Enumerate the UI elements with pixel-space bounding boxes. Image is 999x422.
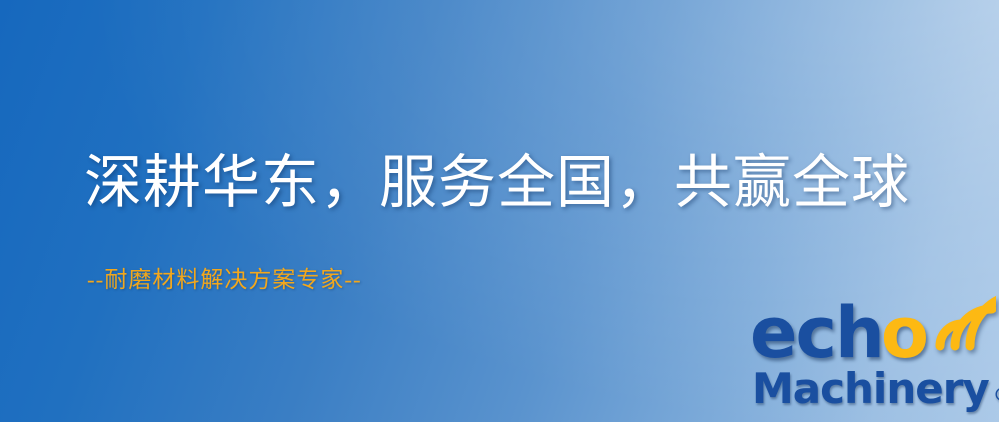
banner-headline: 深耕华东，服务全国，共赢全球 (84, 153, 910, 214)
echo-machinery-logo: ech o Machinery ® (744, 292, 996, 418)
logo-wordmark: ech o (750, 292, 927, 366)
logo-text-machinery: Machinery (752, 364, 989, 413)
promotional-banner: 深耕华东，服务全国，共赢全球 --耐磨材料解决方案专家-- ech o Mach… (0, 0, 999, 422)
signal-waves-icon (934, 290, 996, 352)
logo-text-o: o (881, 300, 927, 367)
logo-text-ech: ech (750, 300, 883, 367)
registered-trademark-icon: ® (993, 384, 999, 406)
banner-subheadline: --耐磨材料解决方案专家-- (87, 266, 362, 294)
logo-subtext: Machinery ® (752, 364, 999, 413)
